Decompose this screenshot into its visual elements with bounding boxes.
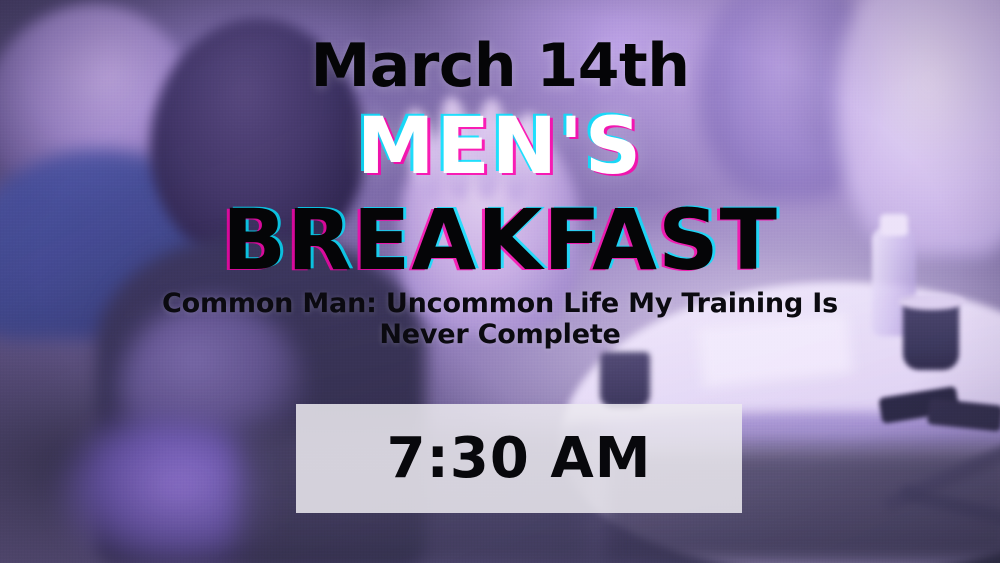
poster-content: March 14th MEN'S BREAKFAST Common Man: U… xyxy=(0,0,1000,563)
event-time-panel: 7:30 AM xyxy=(296,404,742,513)
event-time-text: 7:30 AM xyxy=(387,431,652,487)
event-title-line-1: MEN'S xyxy=(0,108,1000,186)
event-title-line-2: BREAKFAST xyxy=(0,198,1000,282)
event-date-heading: March 14th xyxy=(0,36,1000,96)
event-poster: March 14th MEN'S BREAKFAST Common Man: U… xyxy=(0,0,1000,563)
event-subtitle: Common Man: Uncommon Life My Training Is… xyxy=(120,288,880,351)
